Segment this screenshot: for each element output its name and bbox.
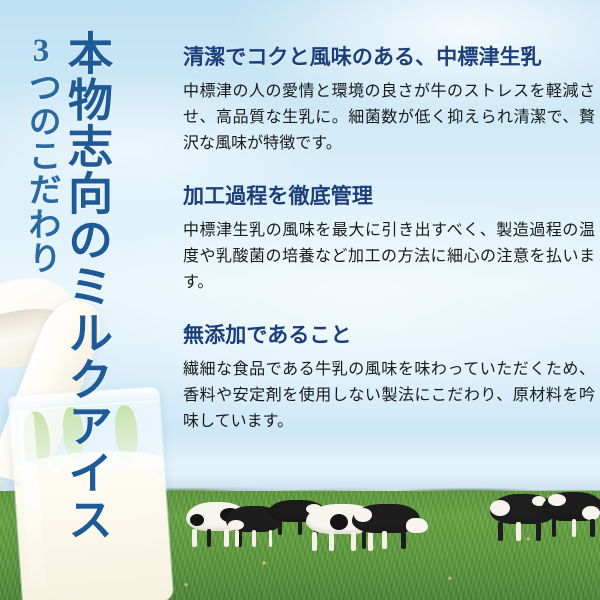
cow-leg bbox=[401, 531, 406, 549]
feature-heading-3: 無添加であること bbox=[183, 322, 595, 348]
cow-leg bbox=[278, 521, 282, 535]
cow-leg bbox=[312, 532, 317, 551]
cow-leg bbox=[329, 532, 334, 551]
cow-leg bbox=[536, 522, 541, 541]
cow-leg bbox=[572, 519, 576, 537]
features-list: 清潔でコクと風味のある、中標津生乳 中標津の人の愛情と環境の良さが牛のストレスを… bbox=[183, 44, 595, 435]
cow-patch bbox=[582, 506, 600, 520]
feature-block-2: 加工過程を徹底管理 中標津生乳の風味を最大に引き出すべく、製造過程の温度や乳酸菌… bbox=[183, 183, 595, 296]
feature-body-2: 中標津生乳の風味を最大に引き出すべく、製造過程の温度や乳酸菌の培養など加工の方法… bbox=[183, 218, 595, 296]
cow-head bbox=[406, 518, 428, 533]
cow-5 bbox=[352, 504, 420, 550]
cow-leg bbox=[235, 530, 239, 547]
promo-banner: 3つのこだわり 本物志向のミルクアイス 清潔でコクと風味のある、中標津生乳 中標… bbox=[0, 0, 600, 600]
cow-leg bbox=[362, 531, 367, 549]
vertical-subtitle: 3つのこだわり bbox=[24, 33, 57, 275]
cow-leg bbox=[516, 522, 521, 541]
cow-leg bbox=[498, 522, 503, 541]
feature-block-1: 清潔でコクと風味のある、中標津生乳 中標津の人の愛情と環境の良さが牛のストレスを… bbox=[183, 44, 595, 157]
cow-patch bbox=[330, 514, 348, 530]
cow-leg bbox=[207, 529, 211, 547]
cow-leg bbox=[298, 521, 302, 535]
cow-leg bbox=[590, 519, 594, 537]
feature-body-1: 中標津の人の愛情と環境の良さが牛のストレスを軽減させ、高品質な生乳に。細菌数が低… bbox=[183, 79, 595, 157]
cow-patch bbox=[228, 520, 244, 530]
feature-heading-2: 加工過程を徹底管理 bbox=[183, 183, 595, 209]
cow-leg bbox=[192, 529, 196, 547]
feature-block-3: 無添加であること 繊細な食品である牛乳の風味を味わっていただくため、香料や安定剤… bbox=[183, 322, 595, 435]
cow-7 bbox=[542, 492, 600, 538]
cow-patch bbox=[354, 508, 372, 522]
cow-patch bbox=[548, 494, 566, 506]
cow-leg bbox=[382, 531, 387, 549]
cow-patch bbox=[190, 514, 204, 526]
cow-patch bbox=[490, 500, 510, 516]
cow-leg bbox=[252, 530, 256, 547]
cow-leg bbox=[552, 519, 556, 537]
feature-body-3: 繊細な食品である牛乳の風味を味わっていただくため、香料や安定剤を使用しない製法に… bbox=[183, 357, 595, 435]
feature-heading-1: 清潔でコクと風味のある、中標津生乳 bbox=[183, 44, 595, 70]
vertical-main-title: 本物志向のミルクアイス bbox=[63, 30, 108, 542]
